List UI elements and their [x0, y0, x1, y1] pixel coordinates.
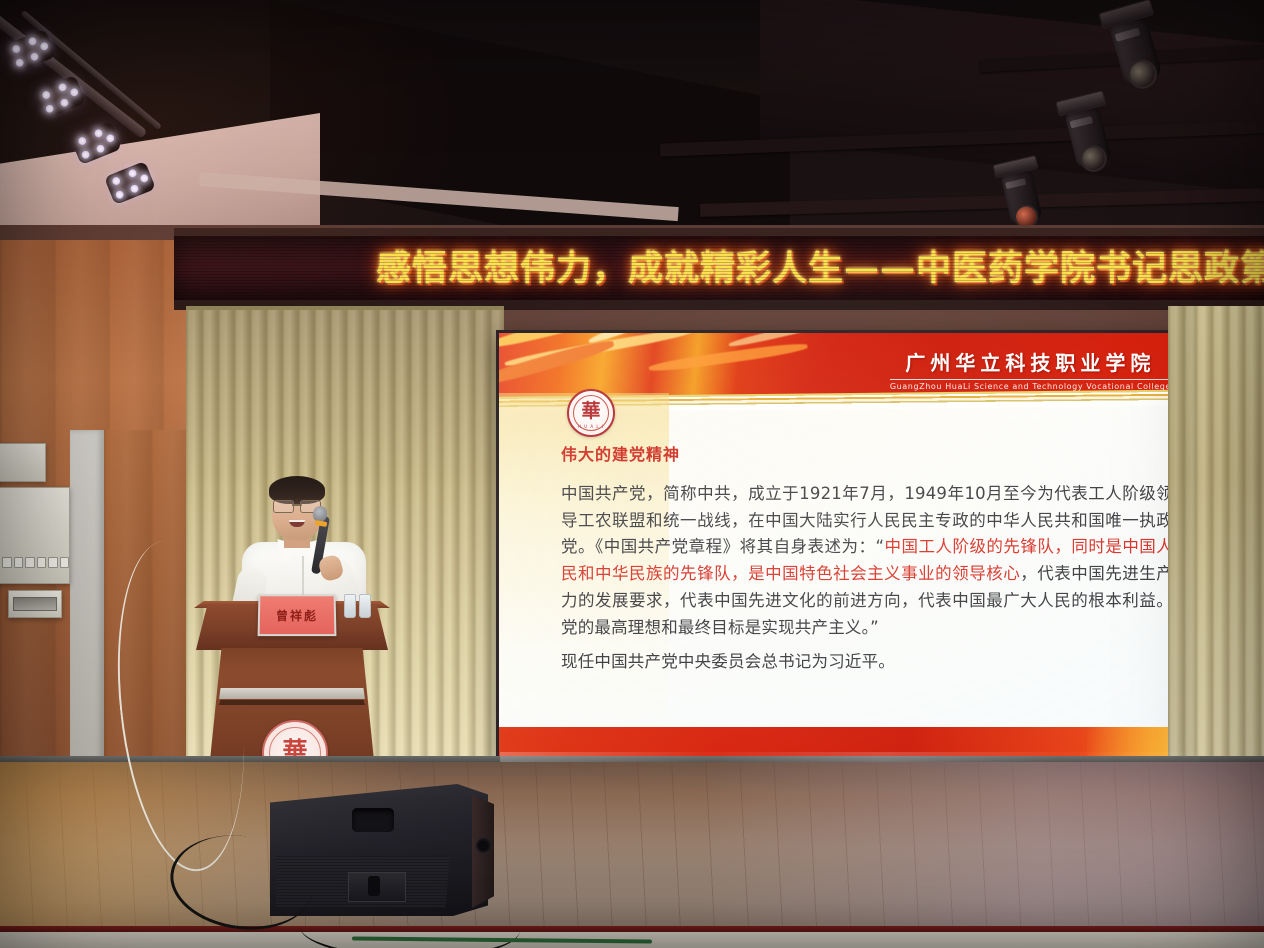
speaker-handle	[352, 808, 394, 832]
school-emblem-icon: 華 H U A L I	[567, 389, 615, 437]
wall-pillar	[70, 430, 104, 800]
speaker-nameplate: 曾祥彪	[258, 594, 337, 636]
slide-body-text: 中国共产党，简称中共，成立于1921年7月，1949年10月至今为代表工人阶级领…	[561, 481, 1173, 641]
led-banner: 感悟思想伟力，成就精彩人生——中医药学院书记思政第一	[174, 236, 1264, 302]
water-bottles	[344, 594, 378, 616]
slide-school-branding: 广州华立科技职业学院 GuangZhou HuaLi Science and T…	[890, 347, 1171, 391]
slide-header-banner: 广州华立科技职业学院 GuangZhou HuaLi Science and T…	[499, 333, 1207, 397]
school-name-cn: 广州华立科技职业学院	[890, 347, 1171, 376]
school-emblem-glyph: 華	[569, 402, 613, 421]
quote-open: “	[875, 537, 884, 556]
led-banner-text: 感悟思想伟力，成就精彩人生——中医药学院书记思政第一	[376, 240, 1264, 291]
electrical-panel-slot	[13, 597, 57, 611]
presentation-slide: 广州华立科技职业学院 GuangZhou HuaLi Science and T…	[499, 333, 1207, 761]
slide-heading: 伟大的建党精神	[561, 441, 680, 465]
stage-curtain-right	[1196, 306, 1264, 786]
speaker-jack	[368, 876, 380, 896]
circuit-breaker-row	[0, 555, 72, 569]
speaker-pole-socket	[476, 838, 491, 853]
school-emblem-subtext: H U A L I	[569, 424, 613, 429]
electrical-panel	[0, 443, 46, 482]
slide-closing-line: 现任中国共产党中央委员会总书记为习近平。	[561, 649, 1173, 675]
projection-screen: 广州华立科技职业学院 GuangZhou HuaLi Science and T…	[496, 330, 1210, 764]
floor-cool-light	[700, 762, 1264, 948]
quote-close: ”	[870, 618, 879, 637]
lecture-hall-scene: 感悟思想伟力，成就精彩人生——中医药学院书记思政第一 广州华立科技职业学院 Gu…	[0, 0, 1264, 948]
speaker-name: 曾祥彪	[276, 607, 318, 624]
electrical-distribution-board	[0, 487, 70, 584]
stage-lip-reflection	[500, 752, 1200, 762]
